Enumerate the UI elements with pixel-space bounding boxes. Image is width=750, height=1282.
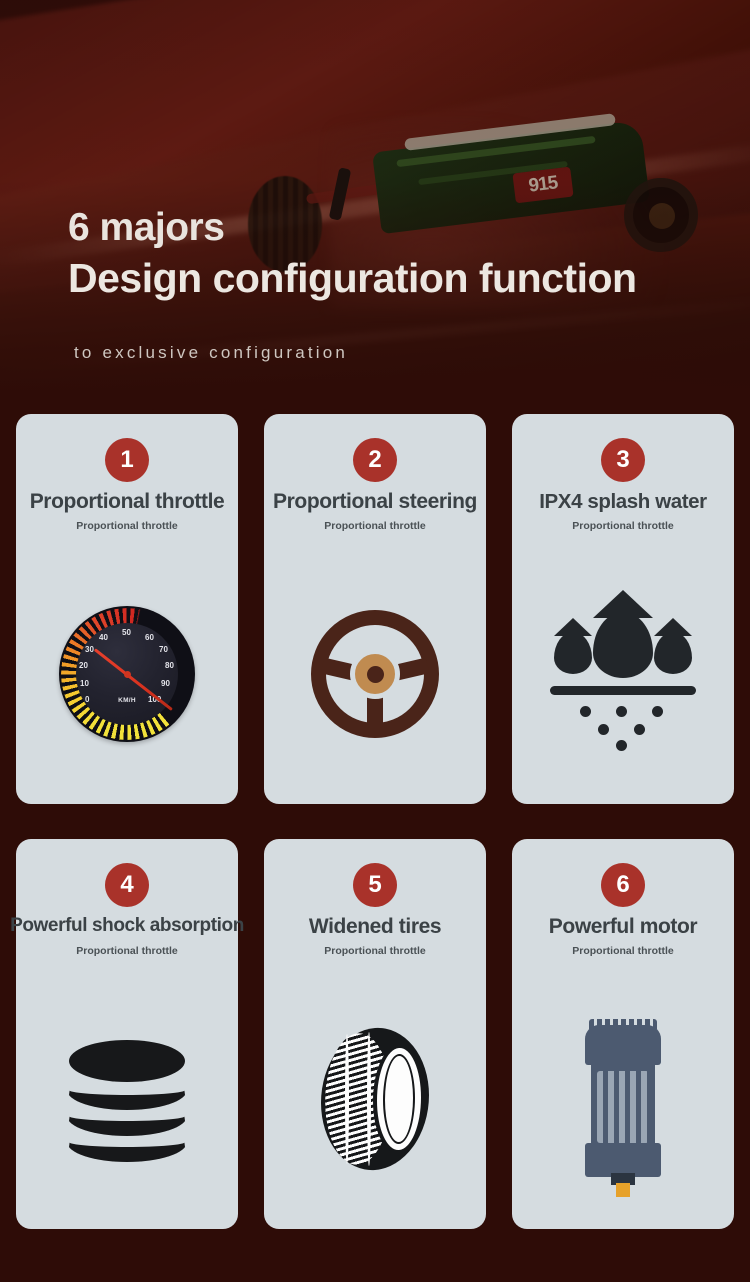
water-droplet-right	[654, 632, 692, 674]
card-title: Widened tires	[250, 915, 500, 939]
product-feature-infographic: 915 6 majors Design configuration functi…	[0, 0, 750, 1282]
water-droplet-center	[593, 612, 653, 678]
hero-subtitle: to exclusive configuration	[74, 343, 348, 363]
card-number-badge: 6	[601, 863, 645, 907]
card-subtitle: Proportional throttle	[16, 520, 238, 532]
water-droplet-left	[554, 632, 592, 674]
splash-dot	[616, 706, 627, 717]
card-subtitle: Proportional throttle	[264, 520, 486, 532]
card-icon-slot	[512, 564, 734, 784]
hero-banner: 915 6 majors Design configuration functi…	[0, 0, 750, 400]
splash-dot	[598, 724, 609, 735]
card-title: Powerful shock absorption	[2, 915, 252, 937]
shock-absorber-icon	[64, 1040, 190, 1158]
speedometer-tick-label-70: 70	[159, 645, 168, 654]
speedometer-face: 0 10 20 30 40 50 60 70 80 90 100 KM/H	[76, 623, 178, 725]
water-splash-icon	[550, 600, 696, 748]
shock-coil-arc	[67, 1122, 187, 1162]
speedometer-tick-label-30: 30	[85, 645, 94, 654]
speedometer-tick-label-10: 10	[80, 679, 89, 688]
feature-card-proportional-steering[interactable]: 2 Proportional steering Proportional thr…	[264, 414, 486, 804]
steering-wheel-icon	[311, 610, 439, 738]
tire-icon	[321, 1028, 429, 1170]
feature-card-proportional-throttle[interactable]: 1 Proportional throttle Proportional thr…	[16, 414, 238, 804]
water-surface-bar	[550, 686, 696, 695]
card-title: Proportional throttle	[2, 490, 252, 514]
splash-dot	[652, 706, 663, 717]
motor-icon	[571, 1015, 675, 1183]
speedometer-tick-label-50: 50	[122, 628, 131, 637]
motor-vent-strips	[597, 1071, 649, 1143]
card-icon-slot	[512, 989, 734, 1209]
steering-wheel-hub	[350, 649, 400, 699]
card-subtitle: Proportional throttle	[16, 945, 238, 957]
motor-base-block	[585, 1143, 661, 1177]
speedometer-tick-label-90: 90	[161, 679, 170, 688]
card-icon-slot	[264, 564, 486, 784]
speedometer-tick-label-0: 0	[85, 695, 89, 704]
speedometer-unit-label: KM/H	[118, 697, 136, 704]
speedometer-tick-label-80: 80	[165, 661, 174, 670]
card-title: IPX4 splash water	[498, 490, 748, 514]
splash-dot	[634, 724, 645, 735]
card-number-badge: 4	[105, 863, 149, 907]
splash-dot	[616, 740, 627, 751]
tire-groove	[345, 1034, 349, 1164]
feature-card-widened-tires[interactable]: 5 Widened tires Proportional throttle	[264, 839, 486, 1229]
card-icon-slot: 0 10 20 30 40 50 60 70 80 90 100 KM/H	[16, 564, 238, 784]
feature-card-grid: 1 Proportional throttle Proportional thr…	[0, 414, 750, 1229]
hero-headline-large: Design configuration function	[68, 256, 637, 301]
tire-groove	[367, 1032, 371, 1166]
card-number-badge: 1	[105, 438, 149, 482]
speedometer-tick-label-60: 60	[145, 633, 154, 642]
feature-card-powerful-shock-absorption[interactable]: 4 Powerful shock absorption Proportional…	[16, 839, 238, 1229]
card-icon-slot	[264, 989, 486, 1209]
speedometer-tick-label-40: 40	[99, 633, 108, 642]
card-subtitle: Proportional throttle	[512, 945, 734, 957]
card-title: Proportional steering	[250, 490, 500, 514]
card-number-badge: 3	[601, 438, 645, 482]
motor-end-cap	[585, 1025, 661, 1065]
hero-text-block: 6 majors Design configuration function t…	[0, 0, 750, 400]
card-number-badge: 5	[353, 863, 397, 907]
card-title: Powerful motor	[498, 915, 748, 939]
hero-headline-small: 6 majors	[68, 208, 224, 247]
splash-dot	[580, 706, 591, 717]
card-subtitle: Proportional throttle	[512, 520, 734, 532]
card-icon-slot	[16, 989, 238, 1209]
card-number-badge: 2	[353, 438, 397, 482]
speedometer-icon: 0 10 20 30 40 50 60 70 80 90 100 KM/H	[59, 606, 195, 742]
speedometer-tick-label-20: 20	[79, 661, 88, 670]
card-subtitle: Proportional throttle	[264, 945, 486, 957]
motor-output-shaft	[616, 1183, 630, 1197]
feature-card-powerful-motor[interactable]: 6 Powerful motor Proportional throttle	[512, 839, 734, 1229]
feature-card-ipx4-splash-water[interactable]: 3 IPX4 splash water Proportional throttl…	[512, 414, 734, 804]
speedometer-hub	[124, 671, 131, 678]
